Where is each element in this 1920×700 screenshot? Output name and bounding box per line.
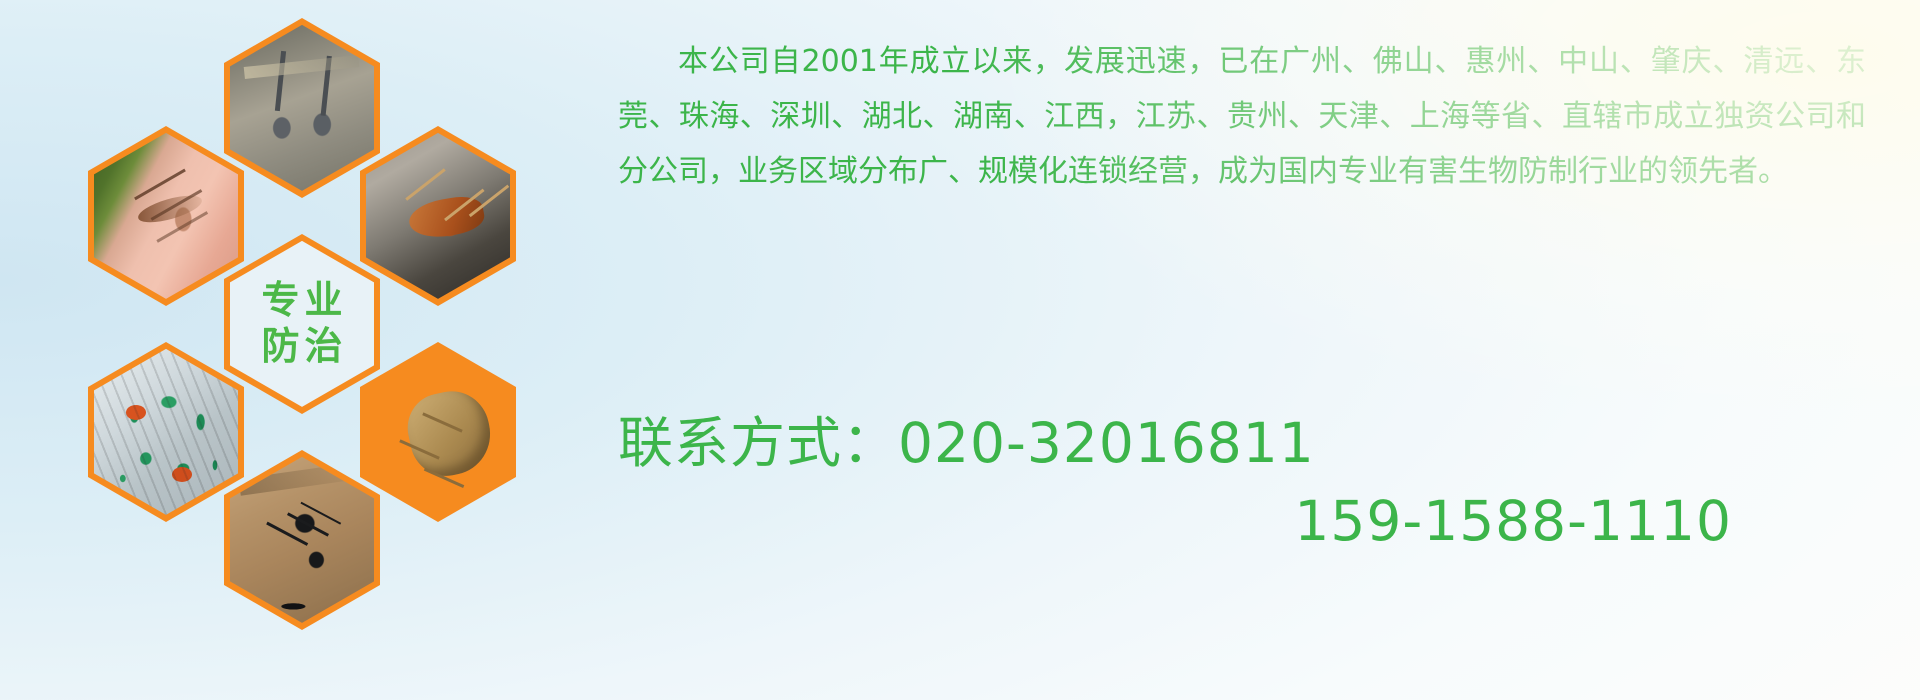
honeycomb-label-line1: 专业 <box>256 281 347 321</box>
honeycomb-label-line2: 防治 <box>256 327 347 367</box>
hex-cell-flies[interactable] <box>88 342 244 522</box>
stink-bug-photo <box>366 349 510 515</box>
contact-secondary-line: 159-1588-1110 <box>618 482 1908 560</box>
banner-root: 专业 防治 本公司自2001年成立以来，发展迅速，已在广州、佛山、惠州、中山、肇… <box>0 0 1920 700</box>
honeycomb-cluster: 专业 防治 <box>88 8 588 578</box>
mosquito-photo <box>94 133 238 299</box>
contact-primary-line: 联系方式：020-32016811 <box>618 404 1908 482</box>
flies-photo <box>94 349 238 515</box>
hex-image-cockroach <box>366 133 510 299</box>
hex-cell-rats[interactable] <box>224 18 380 198</box>
hex-center-inner: 专业 防治 <box>230 241 374 407</box>
hex-image-rats <box>230 25 374 191</box>
contact-phone-primary[interactable]: 020-32016811 <box>898 411 1315 475</box>
hex-image-stink-bug <box>366 349 510 515</box>
honeycomb-center-text: 专业 防治 <box>230 241 374 407</box>
contact-phone-secondary[interactable]: 159-1588-1110 <box>1294 489 1732 553</box>
hex-cell-stink-bug[interactable] <box>360 342 516 522</box>
hex-cell-cockroach[interactable] <box>360 126 516 306</box>
hex-image-mosquito <box>94 133 238 299</box>
company-intro: 本公司自2001年成立以来，发展迅速，已在广州、佛山、惠州、中山、肇庆、清远、东… <box>618 34 1866 199</box>
rats-photo <box>230 25 374 191</box>
hex-cell-ant[interactable] <box>224 450 380 630</box>
contact-label: 联系方式： <box>618 411 898 475</box>
ant-photo <box>230 457 374 623</box>
cockroach-photo <box>366 133 510 299</box>
company-intro-paragraph: 本公司自2001年成立以来，发展迅速，已在广州、佛山、惠州、中山、肇庆、清远、东… <box>618 34 1866 199</box>
hex-cell-center-label: 专业 防治 <box>224 234 380 414</box>
contact-block: 联系方式：020-32016811 159-1588-1110 <box>618 404 1908 560</box>
hex-image-ant <box>230 457 374 623</box>
hex-image-flies <box>94 349 238 515</box>
hex-cell-mosquito[interactable] <box>88 126 244 306</box>
